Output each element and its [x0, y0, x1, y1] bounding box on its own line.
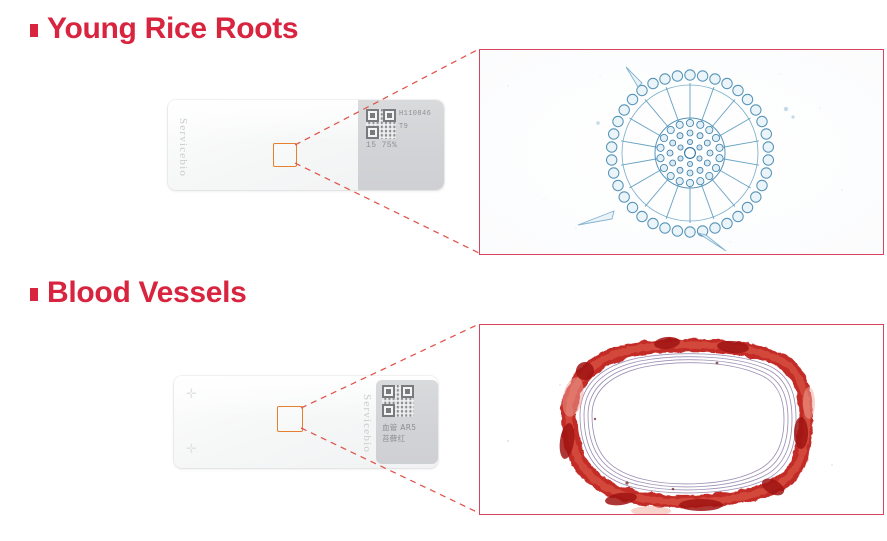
slide-label-code-1: H110846	[399, 110, 431, 118]
qr-finder-bottom-left	[382, 404, 395, 417]
title-label: Young Rice Roots	[47, 14, 298, 44]
alignment-plus-icon-bottom: ✛	[186, 442, 197, 455]
qr-finder-bottom-left	[366, 126, 379, 139]
slide-label-sub-1: T9	[399, 123, 408, 131]
qr-finder-top-right	[383, 109, 396, 122]
microscope-slide-1[interactable]: Servicebio H110846 T9 15 75%	[168, 100, 444, 190]
result-image-frame-1[interactable]	[479, 49, 884, 255]
bullet-square-icon	[30, 24, 38, 37]
alignment-plus-icon-top: ✛	[186, 387, 197, 400]
page-title-blood-vessels: Blood Vessels	[30, 278, 247, 308]
zoom-region-box-2[interactable]	[277, 406, 303, 432]
result-image-frame-2[interactable]	[479, 324, 884, 515]
qr-code-icon-1[interactable]	[366, 109, 396, 139]
brand-label-2: Servicebio	[361, 394, 373, 453]
qr-finder-top-left	[382, 385, 395, 398]
page-title-young-rice-roots: Young Rice Roots	[30, 14, 298, 44]
zoom-region-box-1[interactable]	[273, 143, 297, 167]
blood-vessel-micrograph	[480, 325, 883, 514]
slide-label-code-2: 血管 AR5	[382, 422, 416, 433]
slide-label-line-1: 15 75%	[366, 141, 397, 150]
brand-label-1: Servicebio	[177, 118, 189, 177]
slide-label-sub-2: 苔藓红	[382, 433, 405, 444]
qr-code-icon-2[interactable]	[382, 385, 414, 417]
qr-finder-top-left	[366, 109, 379, 122]
rice-root-micrograph	[480, 50, 883, 254]
title-label: Blood Vessels	[47, 278, 247, 308]
bullet-square-icon	[30, 288, 38, 301]
microscope-slide-2[interactable]: ✛ ✛ Servicebio 血管 AR5 苔藓红	[174, 376, 438, 468]
qr-finder-top-right	[401, 385, 414, 398]
